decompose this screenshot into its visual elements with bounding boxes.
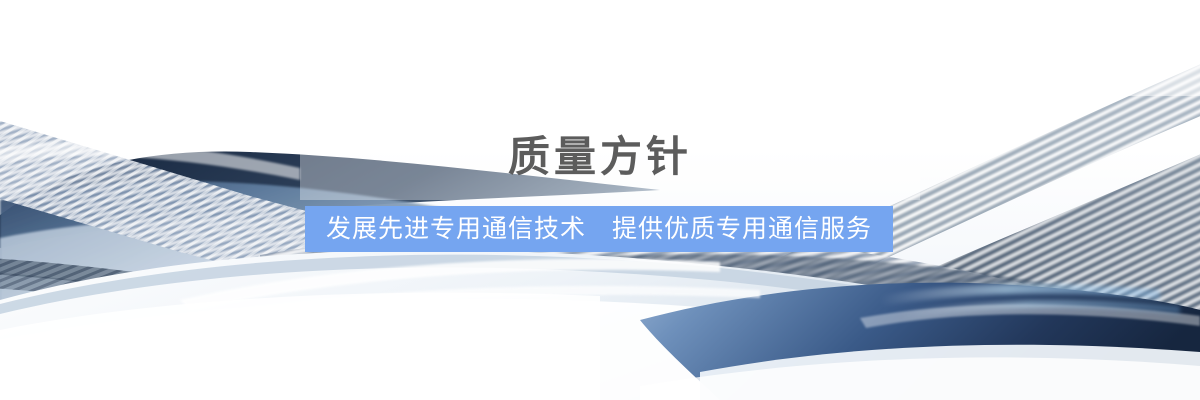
page-title: 质量方针 bbox=[0, 136, 1200, 178]
slogan-text: 发展先进专用通信技术 提供优质专用通信服务 bbox=[326, 217, 872, 242]
slogan-bar: 发展先进专用通信技术 提供优质专用通信服务 bbox=[305, 206, 893, 252]
content-layer: 质量方针 发展先进专用通信技术 提供优质专用通信服务 bbox=[0, 0, 1200, 400]
quality-policy-banner: 质量方针 发展先进专用通信技术 提供优质专用通信服务 bbox=[0, 0, 1200, 400]
